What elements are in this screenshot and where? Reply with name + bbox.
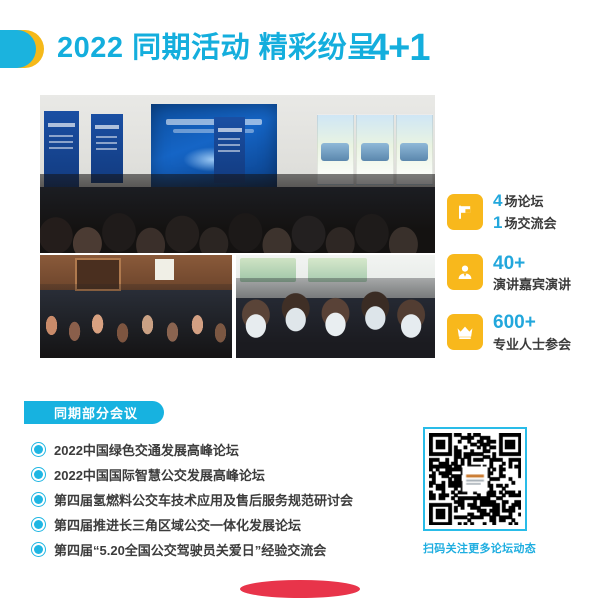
qr-code-frame[interactable] (423, 427, 527, 531)
stat-speakers: 40+ 演讲嘉宾演讲 (447, 252, 597, 294)
bullet-icon (34, 470, 43, 479)
conference-label: 第四届氢燃料公交车技术应用及售后服务规范研讨会 (54, 490, 353, 509)
stat-attendees-value: 600+ (493, 312, 536, 333)
page-title: 2022 同期活动 精彩纷呈 (57, 26, 377, 70)
stat-forums-line-2: 1场交流会 (493, 212, 556, 234)
conference-list: 2022中国绿色交通发展高峰论坛 2022中国国际智慧公交发展高峰论坛 第四届氢… (30, 438, 430, 563)
stat-forums-unit: 场论坛 (504, 194, 543, 209)
stat-speakers-line-1: 40+ (493, 252, 571, 276)
qr-block: 扫码关注更多论坛动态 (423, 427, 533, 556)
photo-audience-auditorium (40, 255, 232, 358)
section-banner-concurrent-meetings: 同期部分会议 (24, 401, 164, 424)
bottom-red-arc-decoration (240, 580, 360, 598)
stat-speakers-text: 40+ 演讲嘉宾演讲 (493, 252, 571, 294)
qr-caption: 扫码关注更多论坛动态 (423, 540, 533, 556)
conference-label: 2022中国国际智慧公交发展高峰论坛 (54, 465, 265, 484)
list-item[interactable]: 第四届氢燃料公交车技术应用及售后服务规范研讨会 (30, 488, 430, 511)
stat-attendees: 600+ 专业人士参会 (447, 311, 597, 353)
stat-attendees-sub: 专业人士参会 (493, 337, 571, 354)
stat-speakers-sub: 演讲嘉宾演讲 (493, 277, 571, 294)
qr-code-image (429, 433, 521, 525)
conference-label: 第四届“5.20全国公交驾驶员关爱日”经验交流会 (54, 540, 326, 559)
stat-attendees-text: 600+ 专业人士参会 (493, 311, 571, 353)
person-icon (447, 254, 483, 290)
audience-crowd (40, 174, 435, 253)
stat-forums-text: 4场论坛 1场交流会 (493, 190, 556, 234)
list-item[interactable]: 第四届推进长三角区域公交一体化发展论坛 (30, 513, 430, 536)
bullet-icon (34, 445, 43, 454)
photo-audience-masked (236, 255, 435, 358)
list-item[interactable]: 第四届“5.20全国公交驾驶员关爱日”经验交流会 (30, 538, 430, 561)
crown-icon (447, 314, 483, 350)
header-badge-4plus1: 4+1 (368, 23, 429, 73)
bullet-icon (34, 545, 43, 554)
photo-main-scene (40, 95, 435, 253)
stat-attendees-line-1: 600+ (493, 311, 571, 335)
stat-forums-value: 4 (493, 191, 502, 210)
stat-speakers-value: 40+ (493, 253, 525, 274)
bullet-icon (34, 520, 43, 529)
stat-exchange-value: 1 (493, 213, 502, 232)
stat-forums-line-1: 4场论坛 (493, 190, 556, 212)
conference-label: 第四届推进长三角区域公交一体化发展论坛 (54, 515, 301, 534)
stats-list: 4场论坛 1场交流会 40+ 演讲嘉宾演讲 600+ 专业人士参会 (447, 190, 597, 371)
photo-bl-scene (40, 255, 232, 358)
photo-br-scene (236, 255, 435, 358)
conference-label: 2022中国绿色交通发展高峰论坛 (54, 440, 239, 459)
list-item[interactable]: 2022中国国际智慧公交发展高峰论坛 (30, 463, 430, 486)
stat-exchange-unit: 场交流会 (504, 216, 556, 231)
page-header: 2022 同期活动 精彩纷呈 4+1 (0, 26, 600, 72)
list-item[interactable]: 2022中国绿色交通发展高峰论坛 (30, 438, 430, 461)
masked-audience (236, 278, 435, 358)
stat-forums: 4场论坛 1场交流会 (447, 190, 597, 234)
photo-main-forum-hall (40, 95, 435, 253)
bullet-icon (34, 495, 43, 504)
seated-audience (40, 284, 232, 358)
flag-icon (447, 194, 483, 230)
